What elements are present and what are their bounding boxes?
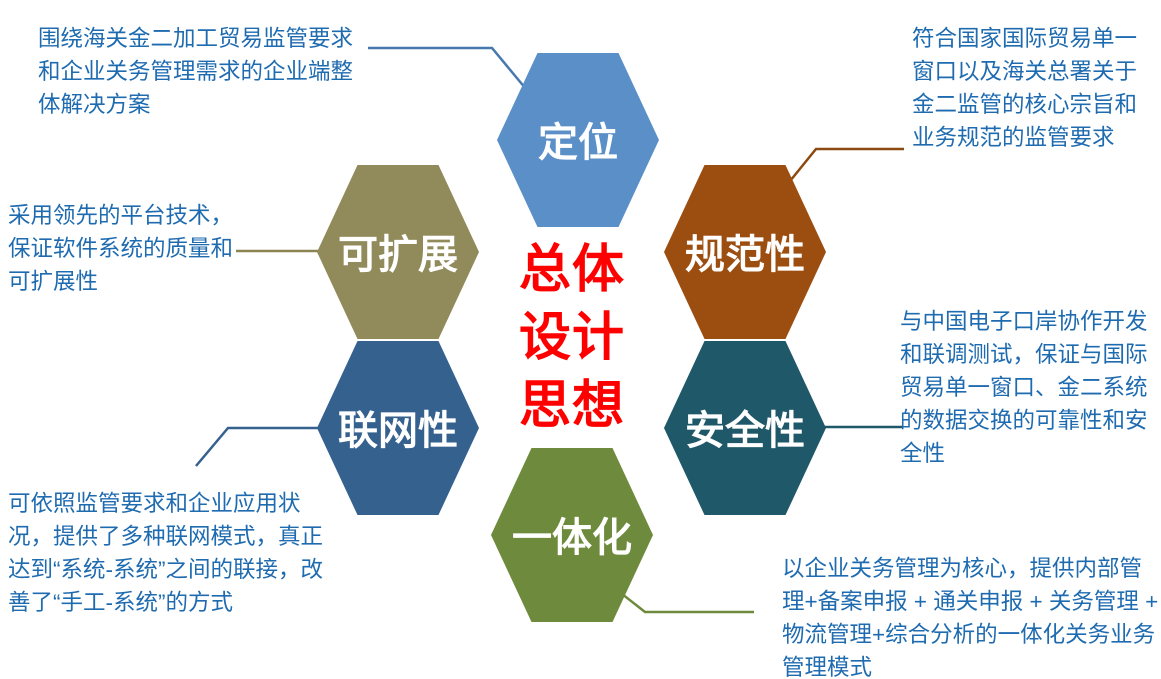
connector-guifanxing	[786, 149, 904, 186]
hex-node-guifanxing[interactable]: 规范性	[664, 165, 826, 339]
hex-label-guifanxing: 规范性	[685, 233, 805, 277]
callout-lianwangxing: 可依照监管要求和企业应用状况，提供了多种联网模式，真正达到“系统-系统”之间的联…	[8, 487, 338, 619]
hex-node-anquanxing[interactable]: 安全性	[664, 341, 826, 515]
callout-kekuozhan: 采用领先的平台技术，保证软件系统的质量和可扩展性	[8, 199, 248, 298]
center-title: 总体 设计 思想	[519, 241, 625, 435]
callout-anquanxing: 与中国电子口岸协作开发和联调测试，保证与国际贸易单一窗口、金二系统的数据交换的可…	[900, 305, 1152, 470]
hex-node-yitihua[interactable]: 一体化	[491, 448, 653, 622]
callout-guifanxing: 符合国家国际贸易单一窗口以及海关总署关于金二监管的核心宗旨和业务规范的监管要求	[912, 22, 1154, 154]
connector-lianwangxing	[196, 428, 321, 466]
center-title-line-3: 思想	[519, 377, 625, 435]
hex-node-dingwei[interactable]: 定位	[497, 53, 659, 227]
hex-label-yitihua: 一体化	[512, 516, 632, 560]
center-title-line-1: 总体	[519, 241, 625, 299]
center-title-line-2: 设计	[519, 309, 625, 367]
connector-yitihua	[617, 590, 754, 612]
hex-label-lianwangxing: 联网性	[338, 409, 458, 453]
hex-label-dingwei: 定位	[538, 121, 618, 165]
diagram-canvas: 定位 可扩展 规范性 联网性 安全性 一体化 总体 设	[0, 0, 1161, 679]
connector-dingwei	[368, 48, 526, 89]
hex-node-lianwangxing[interactable]: 联网性	[317, 341, 479, 515]
callout-dingwei: 围绕海关金二加工贸易监管要求和企业关务管理需求的企业端整体解决方案	[38, 22, 356, 121]
hex-node-kekuozhan[interactable]: 可扩展	[317, 165, 479, 339]
hex-label-anquanxing: 安全性	[685, 408, 805, 453]
callout-yitihua: 以企业关务管理为核心，提供内部管理+备案申报 + 通关申报 + 关务管理 + 物…	[782, 552, 1160, 679]
hex-label-kekuozhan: 可扩展	[338, 233, 458, 277]
